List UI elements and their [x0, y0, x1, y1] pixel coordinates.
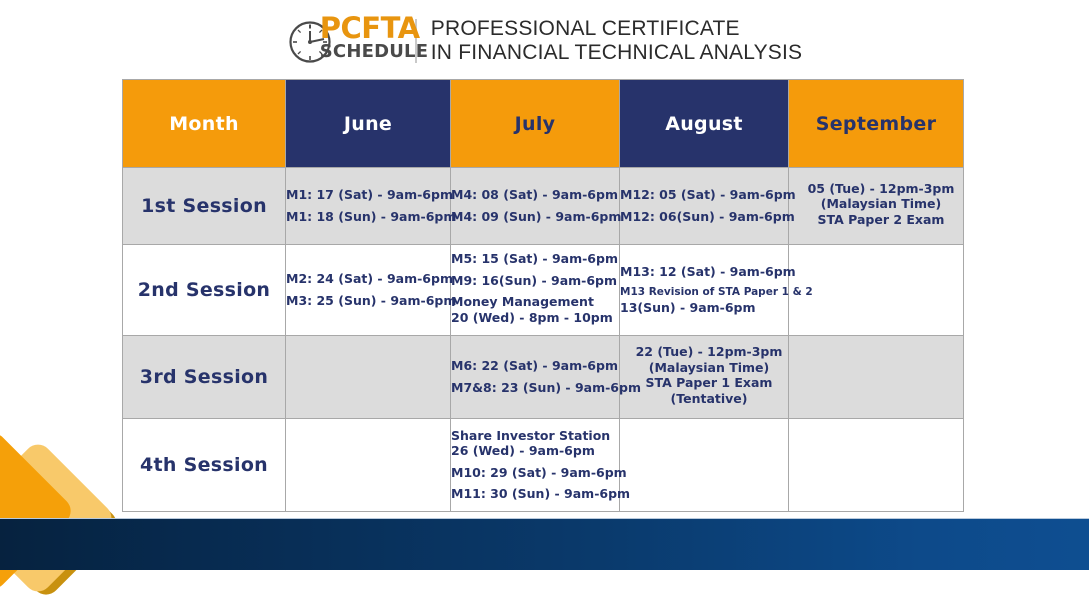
- cell-line: Share Investor Station: [451, 430, 619, 443]
- table-row: 1st Session M1: 17 (Sat) - 9am-6pmM1: 18…: [123, 168, 964, 245]
- cell-july-4th: Share Investor Station26 (Wed) - 9am-6pm…: [451, 419, 620, 512]
- cell-september-2nd: [789, 245, 964, 336]
- logo-word-pcfta: PCFTA: [320, 15, 412, 42]
- session-label: 4th Session: [123, 419, 286, 512]
- cell-line: 20 (Wed) - 8pm - 10pm: [451, 312, 619, 325]
- column-header-july: July: [451, 80, 620, 168]
- cell-line: M5: 15 (Sat) - 9am-6pm: [451, 253, 619, 266]
- table-header-row: Month June July August September: [123, 80, 964, 168]
- cell-line: M2: 24 (Sat) - 9am-6pm: [286, 273, 450, 286]
- cell-line: (Tentative): [630, 393, 788, 406]
- cell-line: M12: 06(Sun) - 9am-6pm: [620, 211, 788, 224]
- cell-august-3rd: 22 (Tue) - 12pm-3pm(Malaysian Time)STA P…: [620, 336, 789, 419]
- column-header-september: September: [789, 80, 964, 168]
- cell-line: STA Paper 2 Exam: [799, 214, 963, 227]
- cell-september-1st: 05 (Tue) - 12pm-3pm(Malaysian Time)STA P…: [789, 168, 964, 245]
- cell-july-2nd: M5: 15 (Sat) - 9am-6pmM9: 16(Sun) - 9am-…: [451, 245, 620, 336]
- pcfta-logo: PCFTA SCHEDULE: [287, 12, 409, 70]
- cell-line: M1: 18 (Sun) - 9am-6pm: [286, 211, 450, 224]
- cell-line: M6: 22 (Sat) - 9am-6pm: [451, 360, 619, 373]
- cell-august-1st: M12: 05 (Sat) - 9am-6pmM12: 06(Sun) - 9a…: [620, 168, 789, 245]
- cell-line: M11: 30 (Sun) - 9am-6pm: [451, 488, 619, 501]
- cell-september-4th: [789, 419, 964, 512]
- cell-june-4th: [286, 419, 451, 512]
- cell-line: M7&8: 23 (Sun) - 9am-6pm: [451, 382, 619, 395]
- cell-june-3rd: [286, 336, 451, 419]
- cell-line: M12: 05 (Sat) - 9am-6pm: [620, 189, 788, 202]
- cell-line: M10: 29 (Sat) - 9am-6pm: [451, 467, 619, 480]
- cell-july-1st: M4: 08 (Sat) - 9am-6pmM4: 09 (Sun) - 9am…: [451, 168, 620, 245]
- cell-line: M4: 09 (Sun) - 9am-6pm: [451, 211, 619, 224]
- cell-june-1st: M1: 17 (Sat) - 9am-6pmM1: 18 (Sun) - 9am…: [286, 168, 451, 245]
- cell-line: 22 (Tue) - 12pm-3pm: [630, 346, 788, 359]
- cell-line: Money Management: [451, 296, 619, 309]
- cell-line: M3: 25 (Sun) - 9am-6pm: [286, 295, 450, 308]
- bottom-band: [0, 519, 1089, 570]
- cell-august-4th: [620, 419, 789, 512]
- schedule-table: Month June July August September 1st Ses…: [122, 79, 964, 512]
- table-row: 4th Session Share Investor Station26 (We…: [123, 419, 964, 512]
- cell-line: M13: 12 (Sat) - 9am-6pm: [620, 266, 788, 279]
- cell-line: (Malaysian Time): [799, 198, 963, 211]
- column-header-august: August: [620, 80, 789, 168]
- cell-july-3rd: M6: 22 (Sat) - 9am-6pmM7&8: 23 (Sun) - 9…: [451, 336, 620, 419]
- cell-line: M4: 08 (Sat) - 9am-6pm: [451, 189, 619, 202]
- table-row: 3rd Session M6: 22 (Sat) - 9am-6pmM7&8: …: [123, 336, 964, 419]
- page-header: PCFTA SCHEDULE PROFESSIONAL CERTIFICATE …: [0, 8, 1089, 74]
- session-label: 3rd Session: [123, 336, 286, 419]
- cell-line: 13(Sun) - 9am-6pm: [620, 302, 788, 315]
- cell-line: M13 Revision of STA Paper 1 & 2: [620, 287, 788, 298]
- logo-wordmark: PCFTA SCHEDULE: [320, 15, 412, 62]
- cell-august-2nd: M13: 12 (Sat) - 9am-6pmM13 Revision of S…: [620, 245, 789, 336]
- session-label: 2nd Session: [123, 245, 286, 336]
- brand-lockup: PCFTA SCHEDULE PROFESSIONAL CERTIFICATE …: [287, 12, 802, 70]
- table-body: 1st Session M1: 17 (Sat) - 9am-6pmM1: 18…: [123, 168, 964, 512]
- cell-line: 26 (Wed) - 9am-6pm: [451, 445, 619, 458]
- cell-june-2nd: M2: 24 (Sat) - 9am-6pmM3: 25 (Sun) - 9am…: [286, 245, 451, 336]
- cell-line: STA Paper 1 Exam: [630, 377, 788, 390]
- page-subtitle: PROFESSIONAL CERTIFICATE IN FINANCIAL TE…: [431, 17, 802, 65]
- cell-line: (Malaysian Time): [630, 362, 788, 375]
- column-header-month: Month: [123, 80, 286, 168]
- cell-september-3rd: [789, 336, 964, 419]
- table-row: 2nd Session M2: 24 (Sat) - 9am-6pmM3: 25…: [123, 245, 964, 336]
- logo-word-schedule: SCHEDULE: [320, 42, 412, 62]
- session-label: 1st Session: [123, 168, 286, 245]
- cell-line: M9: 16(Sun) - 9am-6pm: [451, 275, 619, 288]
- cell-line: 05 (Tue) - 12pm-3pm: [799, 183, 963, 196]
- column-header-june: June: [286, 80, 451, 168]
- cell-line: M1: 17 (Sat) - 9am-6pm: [286, 189, 450, 202]
